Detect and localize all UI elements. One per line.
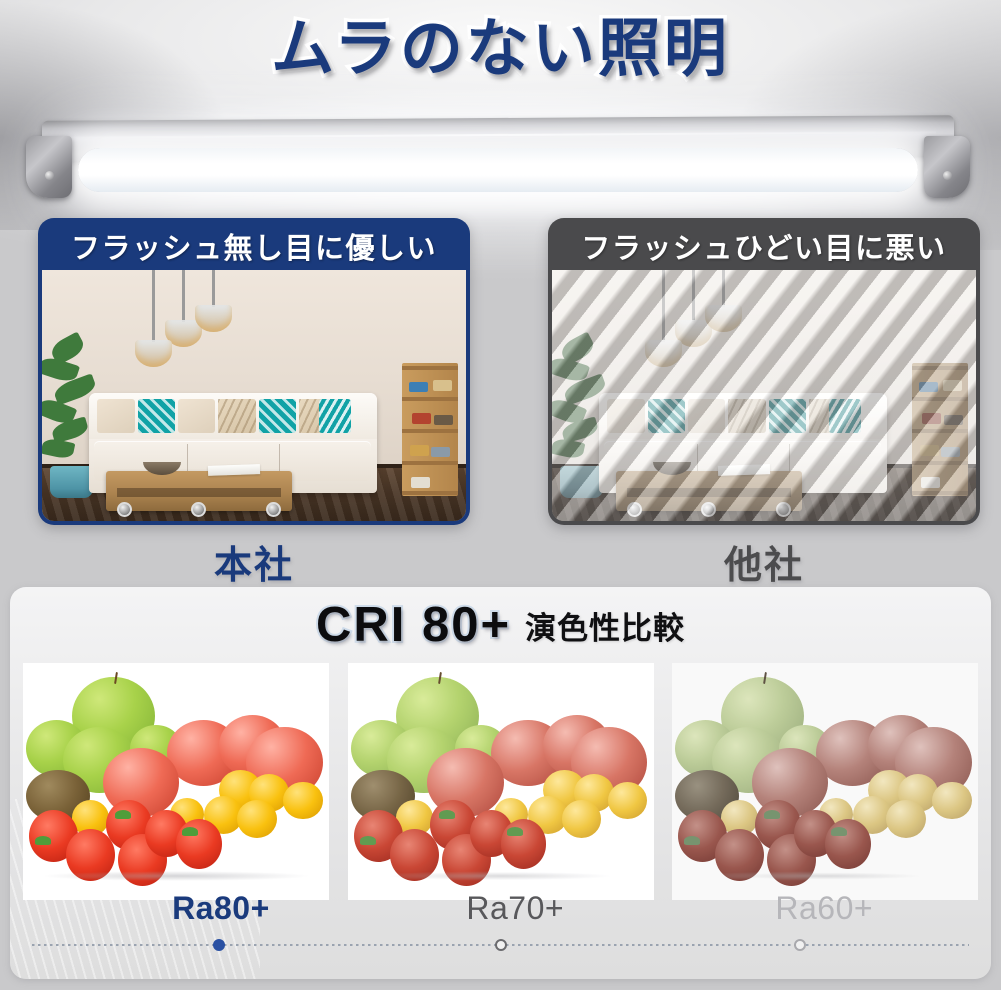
room-scene [552, 270, 976, 521]
room-scene [42, 270, 466, 521]
pendant-lamp-icon [182, 270, 185, 322]
pallet-coffee-table [616, 471, 803, 511]
cri-comparison-card: CRI 80+ 演色性比較 [10, 587, 991, 979]
fixture-endcap-left [26, 136, 72, 198]
cri-scale-dot-ra80[interactable] [213, 939, 225, 951]
pendant-lamp-icon [722, 270, 725, 307]
pendant-lamp-icon [662, 270, 665, 342]
panel-header-bad: フラッシュひどい目に悪い [552, 222, 976, 270]
plant-pot [560, 466, 602, 499]
pendant-lamp-icon [212, 270, 215, 307]
cri-header: CRI 80+ 演色性比較 [10, 587, 991, 663]
cri-scale-dot-ra60[interactable] [794, 939, 806, 951]
room-photo-good [42, 270, 466, 521]
cri-label-ra80[interactable]: Ra80+ [172, 890, 270, 927]
pendant-lamp-icon [692, 270, 695, 322]
page-title: ムラのない照明 [271, 16, 730, 82]
fixture-tube [78, 148, 918, 192]
decor-bowl [143, 462, 181, 475]
comparison-section: フラッシュ無し目に優しい [0, 218, 1001, 578]
cri-title: CRI 80+ [316, 597, 511, 653]
cri-sample-ra60[interactable] [672, 663, 978, 900]
panel-header-label-bad: フラッシュひどい目に悪い [581, 225, 946, 267]
cri-sample-ra70[interactable] [348, 663, 654, 900]
comparison-panel-bad: フラッシュひどい目に悪い [548, 218, 980, 525]
panel-header-label-good: フラッシュ無し目に優しい [71, 225, 437, 267]
product-infographic: ムラのない照明 フラッシュ無し目に優しい [0, 0, 1001, 990]
fruit-photo-ra60 [672, 663, 978, 900]
pendant-lamp-icon [152, 270, 155, 342]
fruit-photo-ra80 [23, 663, 329, 900]
panel-caption-good: 本社 [38, 534, 470, 589]
cri-scale-track[interactable] [32, 944, 969, 946]
cri-label-ra70[interactable]: Ra70+ [466, 890, 564, 927]
cri-label-ra60[interactable]: Ra60+ [775, 890, 873, 927]
fruit-photo-ra70 [348, 663, 654, 900]
cri-sample-ra80[interactable] [23, 663, 329, 900]
pallet-coffee-table [106, 471, 293, 511]
plant-pot [50, 466, 92, 499]
comparison-panel-good: フラッシュ無し目に優しい [38, 218, 470, 525]
cri-subtitle: 演色性比較 [525, 603, 685, 648]
cri-scale-dot-ra70[interactable] [495, 939, 507, 951]
cri-label-row: Ra80+ Ra70+ Ra60+ [10, 883, 991, 927]
decor-bowl [653, 462, 691, 475]
page-title-wrap: ムラのない照明 [0, 16, 1001, 82]
panel-caption-bad: 他社 [548, 534, 980, 589]
panel-header-good: フラッシュ無し目に優しい [42, 222, 466, 270]
bookshelf [402, 363, 457, 496]
decor-book [208, 464, 260, 476]
fixture-endcap-right [924, 136, 970, 198]
decor-book [718, 464, 770, 476]
cri-sample-row [10, 663, 991, 900]
bookshelf [912, 363, 967, 496]
led-tube-fixture [22, 118, 974, 200]
room-photo-bad [552, 270, 976, 521]
